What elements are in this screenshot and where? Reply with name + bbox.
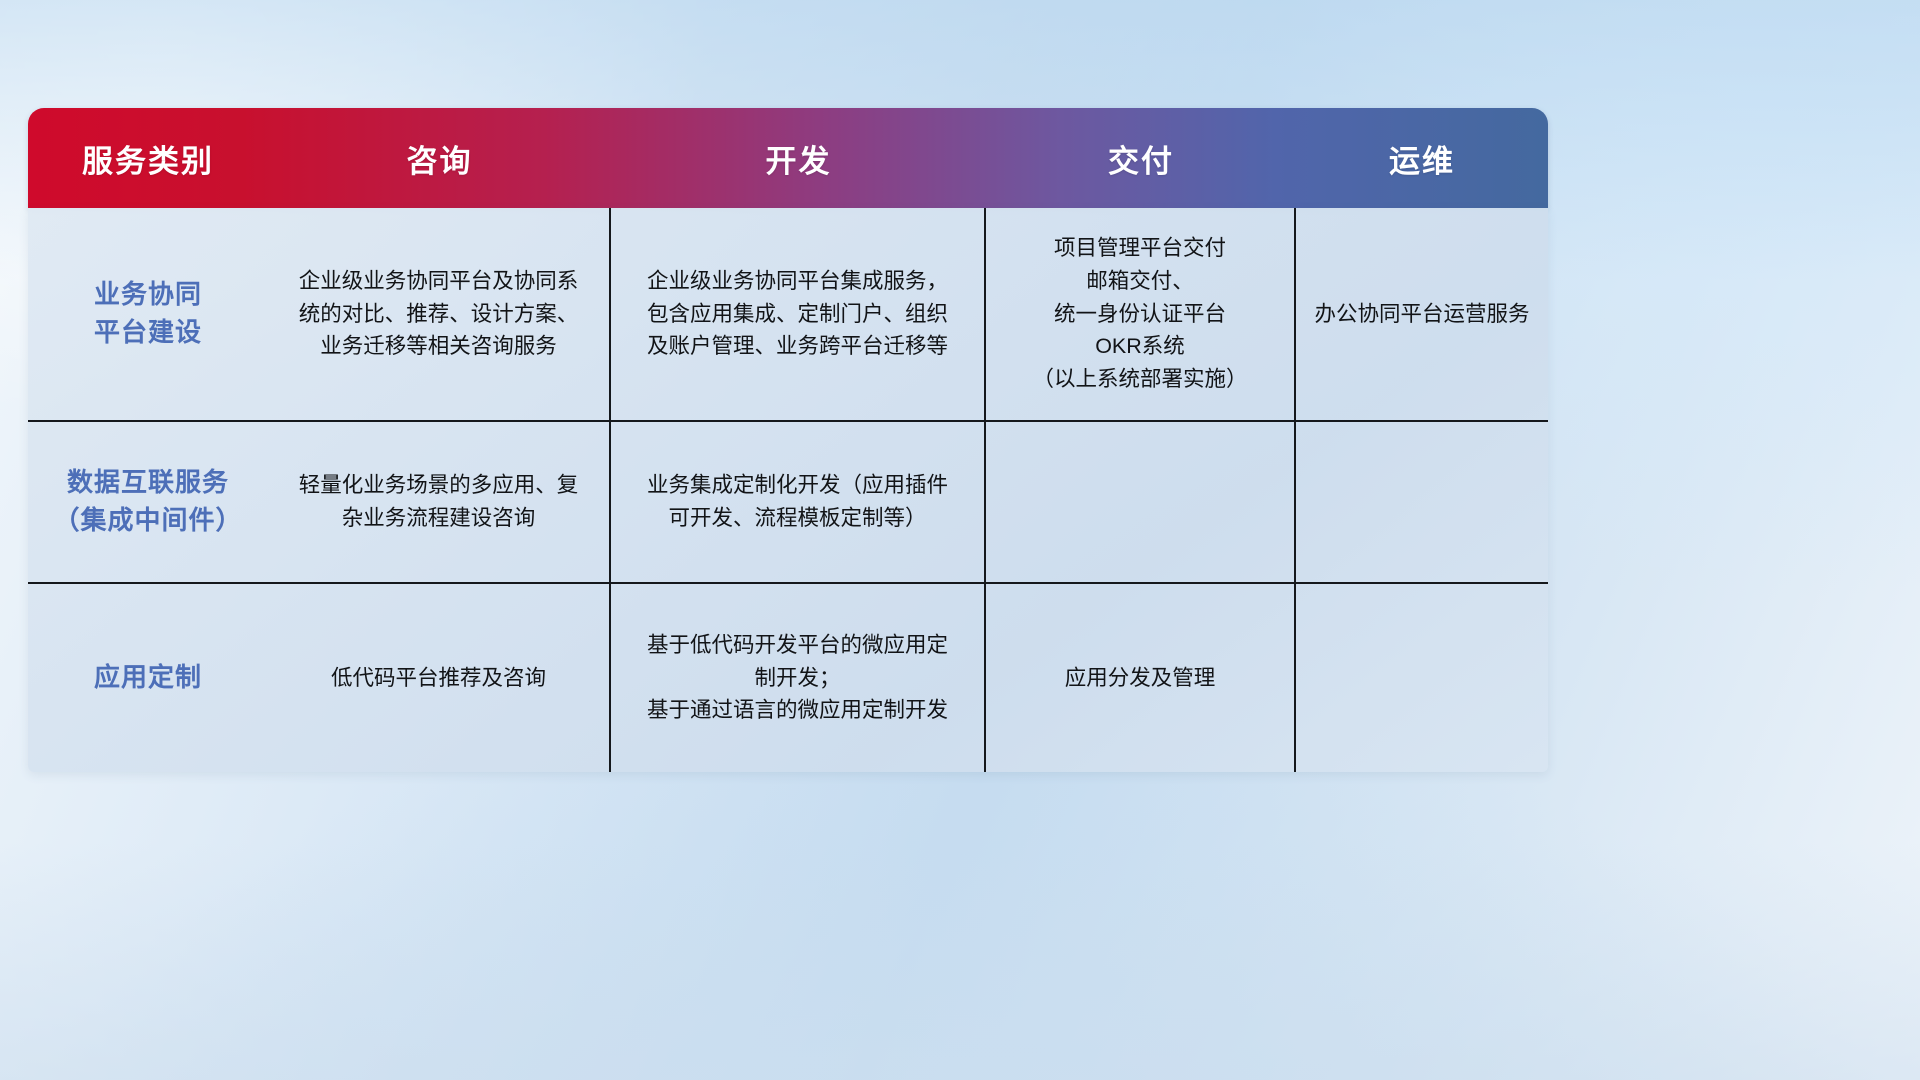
header-cell-operations: 运维 bbox=[1296, 108, 1548, 208]
row-3-development-cell: 基于低代码开发平台的微应用定 制开发； 基于通过语言的微应用定制开发 bbox=[611, 584, 986, 772]
row-2-delivery-cell bbox=[986, 422, 1296, 582]
row-2-category-label: 数据互联服务 （集成中间件） bbox=[28, 422, 268, 582]
row-2-consulting-cell: 轻量化业务场景的多应用、复 杂业务流程建设咨询 bbox=[268, 422, 611, 582]
row-1-development-cell: 企业级业务协同平台集成服务， 包含应用集成、定制门户、组织 及账户管理、业务跨平… bbox=[611, 208, 986, 420]
header-cell-category: 服务类别 bbox=[28, 108, 268, 208]
row-1-consulting-cell: 企业级业务协同平台及协同系 统的对比、推荐、设计方案、 业务迁移等相关咨询服务 bbox=[268, 208, 611, 420]
table-body: 业务协同 平台建设 企业级业务协同平台及协同系 统的对比、推荐、设计方案、 业务… bbox=[28, 208, 1548, 772]
row-3-delivery-cell: 应用分发及管理 bbox=[986, 584, 1296, 772]
header-cell-development: 开发 bbox=[611, 108, 986, 208]
header-cell-consulting: 咨询 bbox=[268, 108, 611, 208]
slide-canvas: 服务类别 咨询 开发 交付 运维 业务协同 平台建设 企业级业务协同平台及协同系… bbox=[0, 0, 1920, 1080]
table-row: 数据互联服务 （集成中间件） 轻量化业务场景的多应用、复 杂业务流程建设咨询 业… bbox=[28, 420, 1548, 582]
header-cell-delivery: 交付 bbox=[986, 108, 1296, 208]
services-matrix-table: 服务类别 咨询 开发 交付 运维 业务协同 平台建设 企业级业务协同平台及协同系… bbox=[28, 108, 1548, 772]
row-3-consulting-cell: 低代码平台推荐及咨询 bbox=[268, 584, 611, 772]
table-row: 应用定制 低代码平台推荐及咨询 基于低代码开发平台的微应用定 制开发； 基于通过… bbox=[28, 582, 1548, 772]
row-1-delivery-cell: 项目管理平台交付 邮箱交付、 统一身份认证平台 OKR系统 （以上系统部署实施） bbox=[986, 208, 1296, 420]
row-1-category-label: 业务协同 平台建设 bbox=[28, 208, 268, 420]
row-2-operations-cell bbox=[1296, 422, 1548, 582]
row-3-category-label: 应用定制 bbox=[28, 584, 268, 772]
row-2-development-cell: 业务集成定制化开发（应用插件 可开发、流程模板定制等） bbox=[611, 422, 986, 582]
row-1-operations-cell: 办公协同平台运营服务 bbox=[1296, 208, 1548, 420]
table-row: 业务协同 平台建设 企业级业务协同平台及协同系 统的对比、推荐、设计方案、 业务… bbox=[28, 208, 1548, 420]
table-header-row: 服务类别 咨询 开发 交付 运维 bbox=[28, 108, 1548, 208]
row-3-operations-cell bbox=[1296, 584, 1548, 772]
